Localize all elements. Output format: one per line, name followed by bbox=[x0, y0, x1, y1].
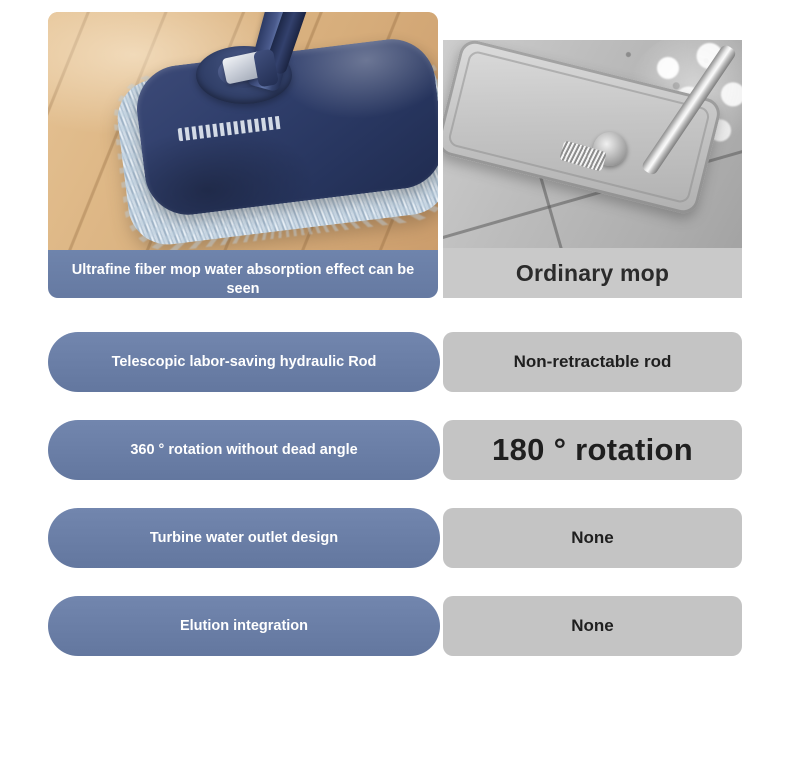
feature-label-cell: 360 ° rotation without dead angle bbox=[48, 420, 440, 480]
feature-comparison-rows: Non-retractable rod Telescopic labor-sav… bbox=[0, 318, 790, 670]
feature-label-cell: Elution integration bbox=[48, 596, 440, 656]
product-mop-photo bbox=[48, 12, 438, 250]
ordinary-mop-photo bbox=[443, 40, 742, 248]
hero-panel-ordinary: Ordinary mop bbox=[443, 40, 742, 298]
ordinary-value-cell: None bbox=[443, 508, 742, 568]
comparison-row: 180 ° rotation 360 ° rotation without de… bbox=[0, 406, 790, 494]
ordinary-value-cell: None bbox=[443, 596, 742, 656]
product-caption: Ultrafine fiber mop water absorption eff… bbox=[48, 250, 438, 298]
ordinary-caption: Ordinary mop bbox=[443, 248, 742, 298]
comparison-row: None Turbine water outlet design bbox=[0, 494, 790, 582]
feature-label-cell: Turbine water outlet design bbox=[48, 508, 440, 568]
comparison-row: Non-retractable rod Telescopic labor-sav… bbox=[0, 318, 790, 406]
ordinary-value-cell: Non-retractable rod bbox=[443, 332, 742, 392]
hero-photo-comparison: Ultrafine fiber mop water absorption eff… bbox=[0, 0, 790, 310]
ordinary-value-cell: 180 ° rotation bbox=[443, 420, 742, 480]
product-comparison-infographic: Ultrafine fiber mop water absorption eff… bbox=[0, 0, 790, 772]
hero-panel-product: Ultrafine fiber mop water absorption eff… bbox=[48, 12, 438, 298]
feature-label-cell: Telescopic labor-saving hydraulic Rod bbox=[48, 332, 440, 392]
comparison-row: None Elution integration bbox=[0, 582, 790, 670]
